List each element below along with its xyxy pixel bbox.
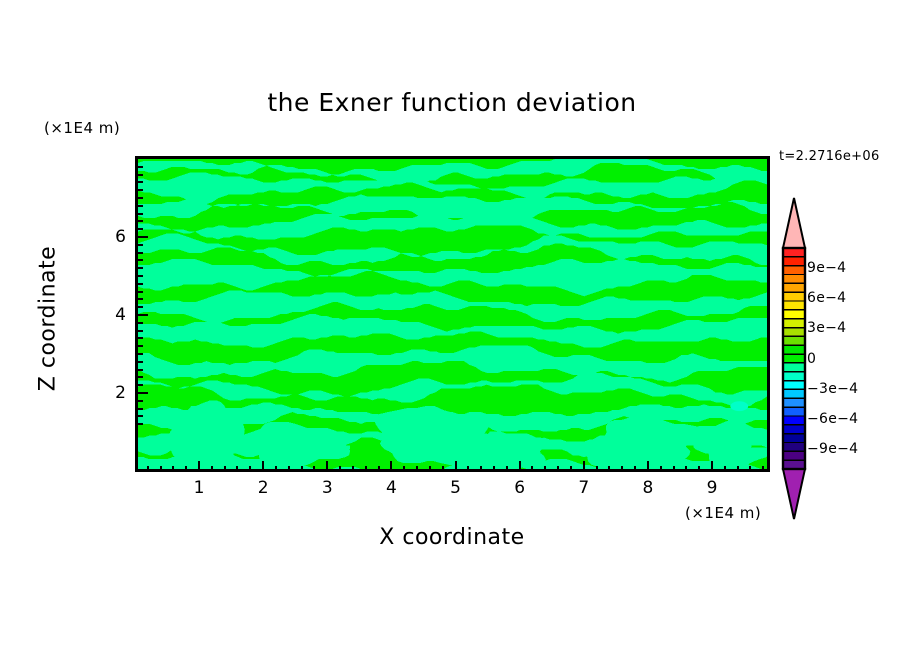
y-tick-label: 6 — [112, 227, 126, 247]
colorbar-tick-label: −6e−4 — [807, 411, 858, 427]
y-tick-minor — [138, 259, 143, 261]
x-tick-label: 1 — [194, 478, 205, 498]
y-tick-minor — [138, 415, 143, 417]
colorbar: 9e−46e−43e−40−3e−4−6e−4−9e−4 — [770, 196, 830, 521]
x-tick-minor — [352, 466, 354, 471]
colorbar-band — [783, 275, 805, 284]
x-tick-major — [519, 461, 521, 471]
x-tick-minor — [685, 466, 687, 471]
x-tick-minor — [544, 466, 546, 471]
contour-patch — [730, 401, 748, 411]
y-tick-major — [138, 392, 148, 394]
x-tick-minor — [596, 466, 598, 471]
y-tick-minor — [138, 345, 143, 347]
x-tick-label: 4 — [386, 478, 397, 498]
colorbar-band — [783, 363, 805, 372]
x-tick-minor — [467, 466, 469, 471]
x-tick-label: 5 — [450, 478, 461, 498]
colorbar-under-arrow — [783, 469, 805, 519]
x-tick-label: 2 — [258, 478, 269, 498]
colorbar-band — [783, 434, 805, 443]
x-tick-label: 9 — [707, 478, 718, 498]
x-tick-label: 8 — [642, 478, 653, 498]
colorbar-tick-label: 9e−4 — [807, 260, 846, 276]
figure-root: the Exner function deviation (×1E4 m) (×… — [0, 0, 904, 654]
x-tick-minor — [288, 466, 290, 471]
x-tick-minor — [211, 466, 213, 471]
colorbar-band — [783, 451, 805, 460]
colorbar-tick-label: 6e−4 — [807, 290, 846, 306]
y-axis-unit-label: (×1E4 m) — [44, 119, 120, 137]
colorbar-tick-label: −3e−4 — [807, 381, 858, 397]
x-tick-minor — [634, 466, 636, 471]
y-tick-minor — [138, 181, 143, 183]
colorbar-band — [783, 381, 805, 390]
timestamp-label: t=2.2716e+06 — [779, 149, 880, 164]
colorbar-band — [783, 266, 805, 275]
colorbar-band — [783, 319, 805, 328]
contour-field — [138, 159, 767, 469]
x-tick-minor — [160, 466, 162, 471]
x-tick-label: 7 — [578, 478, 589, 498]
colorbar-band — [783, 292, 805, 301]
y-tick-minor — [138, 353, 143, 355]
x-tick-minor — [762, 466, 764, 471]
x-tick-minor — [480, 466, 482, 471]
x-tick-minor — [275, 466, 277, 471]
colorbar-gradient — [770, 196, 830, 521]
colorbar-tick-label: −9e−4 — [807, 441, 858, 457]
x-tick-minor — [313, 466, 315, 471]
colorbar-band — [783, 248, 805, 257]
y-tick-minor — [138, 252, 143, 254]
x-tick-minor — [378, 466, 380, 471]
colorbar-band — [783, 407, 805, 416]
x-tick-minor — [185, 466, 187, 471]
colorbar-band — [783, 398, 805, 407]
x-tick-minor — [147, 466, 149, 471]
colorbar-band — [783, 425, 805, 434]
x-tick-minor — [621, 466, 623, 471]
x-tick-minor — [236, 466, 238, 471]
x-tick-major — [198, 461, 200, 471]
colorbar-band — [783, 372, 805, 381]
y-tick-minor — [138, 291, 143, 293]
y-tick-minor — [138, 228, 143, 230]
x-tick-minor — [660, 466, 662, 471]
y-tick-minor — [138, 337, 143, 339]
x-tick-minor — [673, 466, 675, 471]
colorbar-band — [783, 345, 805, 354]
x-tick-minor — [493, 466, 495, 471]
y-tick-minor — [138, 197, 143, 199]
y-tick-minor — [138, 330, 143, 332]
x-tick-minor — [749, 466, 751, 471]
colorbar-band — [783, 301, 805, 310]
y-tick-minor — [138, 205, 143, 207]
y-tick-minor — [138, 322, 143, 324]
y-tick-label: 4 — [112, 305, 126, 325]
x-tick-major — [455, 461, 457, 471]
x-axis-title: X coordinate — [0, 525, 904, 550]
y-tick-minor — [138, 220, 143, 222]
x-tick-minor — [301, 466, 303, 471]
x-tick-major — [711, 461, 713, 471]
x-tick-minor — [249, 466, 251, 471]
x-tick-major — [390, 461, 392, 471]
y-tick-major — [138, 236, 148, 238]
x-tick-minor — [570, 466, 572, 471]
x-tick-minor — [172, 466, 174, 471]
y-tick-minor — [138, 306, 143, 308]
contour-plot-area — [135, 156, 770, 472]
x-tick-minor — [737, 466, 739, 471]
x-tick-minor — [429, 466, 431, 471]
x-tick-major — [326, 461, 328, 471]
y-tick-minor — [138, 275, 143, 277]
y-tick-minor — [138, 376, 143, 378]
page-title: the Exner function deviation — [0, 88, 904, 117]
y-tick-minor — [138, 174, 143, 176]
x-tick-minor — [698, 466, 700, 471]
x-tick-minor — [531, 466, 533, 471]
colorbar-tick-label: 0 — [807, 351, 816, 367]
y-tick-minor — [138, 369, 143, 371]
x-tick-minor — [506, 466, 508, 471]
x-tick-minor — [339, 466, 341, 471]
y-tick-minor — [138, 283, 143, 285]
y-tick-minor — [138, 189, 143, 191]
y-tick-minor — [138, 423, 143, 425]
colorbar-band — [783, 354, 805, 363]
y-tick-minor — [138, 384, 143, 386]
x-tick-minor — [365, 466, 367, 471]
x-tick-minor — [608, 466, 610, 471]
x-tick-label: 3 — [322, 478, 333, 498]
y-tick-minor — [138, 408, 143, 410]
colorbar-band — [783, 328, 805, 337]
y-tick-minor — [138, 267, 143, 269]
y-tick-label: 2 — [112, 383, 126, 403]
colorbar-band — [783, 442, 805, 451]
x-tick-minor — [557, 466, 559, 471]
colorbar-band — [783, 283, 805, 292]
x-tick-major — [647, 461, 649, 471]
y-tick-minor — [138, 400, 143, 402]
y-tick-minor — [138, 166, 143, 168]
x-tick-minor — [403, 466, 405, 471]
x-axis-unit-label: (×1E4 m) — [685, 504, 761, 522]
colorbar-band — [783, 336, 805, 345]
y-axis-title: Z coordinate — [36, 234, 61, 404]
y-tick-minor — [138, 298, 143, 300]
x-tick-minor — [442, 466, 444, 471]
y-tick-minor — [138, 361, 143, 363]
y-tick-minor — [138, 213, 143, 215]
colorbar-tick-label: 3e−4 — [807, 320, 846, 336]
colorbar-band — [783, 257, 805, 266]
y-tick-minor — [138, 244, 143, 246]
y-tick-major — [138, 314, 148, 316]
x-tick-minor — [224, 466, 226, 471]
colorbar-over-arrow — [783, 198, 805, 248]
x-tick-minor — [724, 466, 726, 471]
colorbar-band — [783, 416, 805, 425]
colorbar-band — [783, 310, 805, 319]
x-tick-major — [583, 461, 585, 471]
x-tick-label: 6 — [514, 478, 525, 498]
x-tick-major — [262, 461, 264, 471]
x-tick-minor — [416, 466, 418, 471]
colorbar-band — [783, 389, 805, 398]
